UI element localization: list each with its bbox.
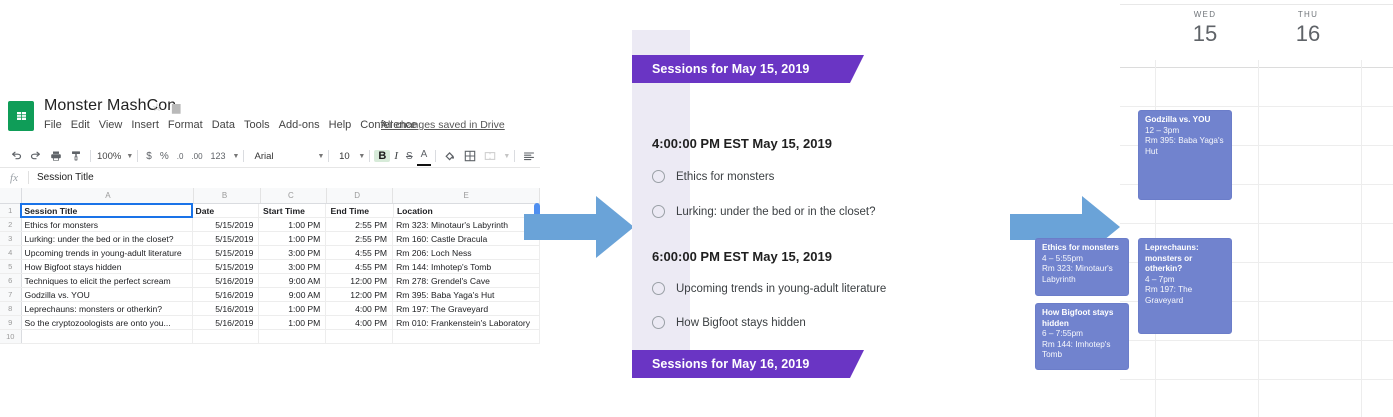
spreadsheet-grid: A B C D E 1 Session Title Date Start Tim… xyxy=(0,188,540,344)
table-header-row: 1 Session Title Date Start Time End Time… xyxy=(0,204,540,218)
event-time: 6 – 7:55pm xyxy=(1042,329,1123,340)
event-title: Ethics for monsters xyxy=(1042,243,1123,254)
flow-arrow-1 xyxy=(524,196,634,263)
cell-location[interactable]: Rm 160: Castle Dracula xyxy=(393,232,540,245)
table-row-empty: 10 xyxy=(0,330,540,344)
menu-item-data[interactable]: Data xyxy=(212,119,235,131)
folder-icon[interactable]: ▆ xyxy=(172,101,180,114)
menu-bar: FileEditViewInsertFormatDataToolsAdd-ons… xyxy=(44,119,426,131)
event-time: 4 – 7pm xyxy=(1145,275,1226,286)
event-title: How Bigfoot stays hidden xyxy=(1042,308,1123,329)
align-icon[interactable] xyxy=(519,147,539,165)
radio-option-label: Ethics for monsters xyxy=(676,171,774,183)
merge-cells-icon[interactable] xyxy=(480,147,500,165)
cell-start-time[interactable]: 1:00 PM xyxy=(259,316,326,329)
calendar-day-header-thu[interactable]: THU 16 xyxy=(1258,10,1358,47)
cell-start-time[interactable]: 3:00 PM xyxy=(259,246,326,259)
radio-button-icon[interactable] xyxy=(652,282,665,295)
cell-location[interactable]: Rm 395: Baba Yaga's Hut xyxy=(393,288,540,301)
time-group-heading-2: 6:00:00 PM EST May 15, 2019 xyxy=(652,249,832,264)
day-number-label: 16 xyxy=(1258,21,1358,47)
row-number[interactable]: 8 xyxy=(0,302,22,315)
event-location: Rm 144: Imhotep's Tomb xyxy=(1042,340,1123,361)
cell-end-time[interactable]: 12:00 PM xyxy=(326,274,393,287)
calendar-event-ethics[interactable]: Ethics for monsters 4 – 5:55pm Rm 323: M… xyxy=(1035,238,1129,296)
day-of-week-label: THU xyxy=(1258,10,1358,19)
calendar-day-divider xyxy=(1258,60,1259,417)
cell-date[interactable]: 5/15/2019 xyxy=(193,232,260,245)
cell-a10[interactable] xyxy=(22,330,193,343)
row-number[interactable]: 6 xyxy=(0,274,22,287)
merge-chevron-down-icon[interactable]: ▼ xyxy=(503,153,510,160)
banner-slant-decoration xyxy=(850,55,864,83)
cell-date[interactable]: 5/16/2019 xyxy=(193,302,260,315)
menu-item-addons[interactable]: Add-ons xyxy=(279,119,320,131)
formats-chevron-down-icon[interactable]: ▼ xyxy=(233,153,240,160)
event-location: Rm 323: Minotaur's Labyrinth xyxy=(1042,264,1123,285)
cell-session-title[interactable]: So the cryptozoologists are onto you... xyxy=(22,316,193,329)
row-number[interactable]: 1 xyxy=(0,204,21,217)
cell-date[interactable]: 5/16/2019 xyxy=(193,274,260,287)
font-chevron-down-icon[interactable]: ▼ xyxy=(317,153,324,160)
cell-start-time[interactable]: 9:00 AM xyxy=(259,274,326,287)
cell-session-title[interactable]: Techniques to elicit the perfect scream xyxy=(22,274,193,287)
table-row: 3Lurking: under the bed or in the closet… xyxy=(0,232,540,246)
font-family-select[interactable]: Arial xyxy=(248,151,314,162)
banner-label: Sessions for May 16, 2019 xyxy=(652,357,809,371)
cell-session-title[interactable]: Godzilla vs. YOU xyxy=(22,288,193,301)
menu-item-format[interactable]: Format xyxy=(168,119,203,131)
font-size-select[interactable]: 10 xyxy=(333,151,355,162)
form-section-banner-may16: Sessions for May 16, 2019 xyxy=(632,350,850,378)
table-row: 2Ethics for monsters5/15/20191:00 PM2:55… xyxy=(0,218,540,232)
cell-date[interactable]: 5/15/2019 xyxy=(193,218,260,231)
cell-end-time[interactable]: 4:00 PM xyxy=(326,316,393,329)
row-number[interactable]: 4 xyxy=(0,246,22,259)
calendar-event-bigfoot[interactable]: How Bigfoot stays hidden 6 – 7:55pm Rm 1… xyxy=(1035,303,1129,370)
event-time: 4 – 5:55pm xyxy=(1042,254,1123,265)
radio-option-upcoming-trends[interactable]: Upcoming trends in young-adult literatur… xyxy=(652,282,886,295)
google-sheets-window: Monster MashCon ☆ ▆ FileEditViewInsertFo… xyxy=(0,95,540,320)
cell-session-title[interactable]: Ethics for monsters xyxy=(22,218,193,231)
google-calendar-week-view: WED 15 THU 16 xyxy=(1120,0,1393,417)
sheets-toolbar: 100% ▼ $ % .0 .00 123 ▼ Arial ▼ 10 ▼ B I… xyxy=(0,145,540,168)
fx-icon: fx xyxy=(0,172,28,184)
table-body: 2Ethics for monsters5/15/20191:00 PM2:55… xyxy=(0,218,540,330)
table-row: 9So the cryptozoologists are onto you...… xyxy=(0,316,540,330)
day-of-week-label: WED xyxy=(1155,10,1255,19)
cell-date[interactable]: 5/16/2019 xyxy=(193,288,260,301)
time-group-heading-1: 4:00:00 PM EST May 15, 2019 xyxy=(652,136,832,151)
screenshot-stage: Monster MashCon ☆ ▆ FileEditViewInsertFo… xyxy=(0,0,1393,417)
text-color-button[interactable]: A xyxy=(417,146,432,166)
table-row: 6Techniques to elicit the perfect scream… xyxy=(0,274,540,288)
save-status-link[interactable]: All changes saved in Drive xyxy=(381,119,505,131)
cell-end-time[interactable]: 12:00 PM xyxy=(326,288,393,301)
cell-location[interactable]: Rm 144: Imhotep's Tomb xyxy=(393,260,540,273)
formula-bar: fx Session Title xyxy=(0,167,540,189)
menu-item-view[interactable]: View xyxy=(99,119,123,131)
radio-option-label: Upcoming trends in young-adult literatur… xyxy=(676,283,886,295)
redo-icon[interactable] xyxy=(26,147,46,165)
cell-session-title[interactable]: Leprechauns: monsters or otherkin? xyxy=(22,302,193,315)
cell-start-time[interactable]: 3:00 PM xyxy=(259,260,326,273)
cell-a1-session-title[interactable]: Session Title xyxy=(21,204,191,217)
cell-end-time[interactable]: 4:55 PM xyxy=(326,260,393,273)
row-number[interactable]: 10 xyxy=(0,330,22,343)
cell-c10[interactable] xyxy=(259,330,326,343)
row-number[interactable]: 3 xyxy=(0,232,22,245)
cell-location[interactable]: Rm 197: The Graveyard xyxy=(393,302,540,315)
radio-option-lurking[interactable]: Lurking: under the bed or in the closet? xyxy=(652,205,875,218)
cell-b1-date[interactable]: Date xyxy=(192,204,259,217)
cell-end-time[interactable]: 2:55 PM xyxy=(326,232,393,245)
radio-option-bigfoot[interactable]: How Bigfoot stays hidden xyxy=(652,316,806,329)
banner-label: Sessions for May 15, 2019 xyxy=(652,62,809,76)
calendar-hour-line xyxy=(1120,340,1393,341)
cell-location[interactable]: Rm 323: Minotaur's Labyrinth xyxy=(393,218,540,231)
bold-button[interactable]: B xyxy=(374,150,390,162)
cell-start-time[interactable]: 1:00 PM xyxy=(259,218,326,231)
menu-item-help[interactable]: Help xyxy=(329,119,352,131)
fill-color-icon[interactable] xyxy=(440,147,460,165)
radio-button-icon[interactable] xyxy=(652,170,665,183)
cell-location[interactable]: Rm 010: Frankenstein's Laboratory xyxy=(393,316,540,329)
radio-option-label: How Bigfoot stays hidden xyxy=(676,317,806,329)
event-title: Leprechauns: monsters or otherkin? xyxy=(1145,243,1226,275)
more-formats-button[interactable]: 123 xyxy=(207,147,230,165)
size-chevron-down-icon[interactable]: ▼ xyxy=(358,153,365,160)
percent-format-button[interactable]: % xyxy=(156,147,173,165)
row-number[interactable]: 7 xyxy=(0,288,22,301)
calendar-hour-line xyxy=(1120,67,1393,68)
table-row: 4Upcoming trends in young-adult literatu… xyxy=(0,246,540,260)
column-header-c[interactable]: C xyxy=(261,188,327,203)
cell-c1-start-time[interactable]: Start Time xyxy=(259,204,326,217)
cell-d1-end-time[interactable]: End Time xyxy=(326,204,393,217)
italic-button[interactable]: I xyxy=(390,150,402,162)
borders-icon[interactable] xyxy=(460,147,480,165)
event-location: Rm 197: The Graveyard xyxy=(1145,285,1226,306)
chevron-down-icon[interactable]: ▼ xyxy=(126,153,133,160)
cell-start-time[interactable]: 1:00 PM xyxy=(259,232,326,245)
cell-session-title[interactable]: Lurking: under the bed or in the closet? xyxy=(22,232,193,245)
column-header-b[interactable]: B xyxy=(194,188,260,203)
cell-end-time[interactable]: 4:00 PM xyxy=(326,302,393,315)
calendar-top-divider xyxy=(1120,4,1393,5)
menu-item-edit[interactable]: Edit xyxy=(71,119,90,131)
undo-icon[interactable] xyxy=(6,147,26,165)
column-header-row: A B C D E xyxy=(0,188,540,204)
cell-session-title[interactable]: How Bigfoot stays hidden xyxy=(22,260,193,273)
menu-item-file[interactable]: File xyxy=(44,119,62,131)
calendar-day-divider xyxy=(1361,60,1362,417)
decrease-decimal-button[interactable]: .0 xyxy=(173,147,188,165)
banner-slant-decoration xyxy=(850,350,864,378)
cell-location[interactable]: Rm 206: Loch Ness xyxy=(393,246,540,259)
cell-b10[interactable] xyxy=(193,330,260,343)
cell-e10[interactable] xyxy=(393,330,540,343)
menu-item-tools[interactable]: Tools xyxy=(244,119,270,131)
star-icon[interactable]: ☆ xyxy=(152,101,162,114)
calendar-hour-line xyxy=(1120,379,1393,380)
event-location: Rm 395: Baba Yaga's Hut xyxy=(1145,136,1226,157)
cell-date[interactable]: 5/16/2019 xyxy=(193,316,260,329)
cell-end-time[interactable]: 4:55 PM xyxy=(326,246,393,259)
google-form-preview: Sessions for May 15, 2019 4:00:00 PM EST… xyxy=(632,30,920,370)
print-icon[interactable] xyxy=(46,147,66,165)
day-number-label: 15 xyxy=(1155,21,1255,47)
table-row: 8Leprechauns: monsters or otherkin?5/16/… xyxy=(0,302,540,316)
calendar-event-godzilla[interactable]: Godzilla vs. YOU 12 – 3pm Rm 395: Baba Y… xyxy=(1138,110,1232,200)
table-row: 7Godzilla vs. YOU5/16/20199:00 AM12:00 P… xyxy=(0,288,540,302)
column-header-d[interactable]: D xyxy=(327,188,393,203)
table-row: 5How Bigfoot stays hidden5/15/20193:00 P… xyxy=(0,260,540,274)
cell-start-time[interactable]: 9:00 AM xyxy=(259,288,326,301)
cell-date[interactable]: 5/15/2019 xyxy=(193,260,260,273)
cell-start-time[interactable]: 1:00 PM xyxy=(259,302,326,315)
row-number[interactable]: 9 xyxy=(0,316,22,329)
radio-button-icon[interactable] xyxy=(652,205,665,218)
cell-d10[interactable] xyxy=(326,330,393,343)
formula-input[interactable]: Session Title xyxy=(29,172,94,183)
zoom-level[interactable]: 100% xyxy=(95,151,123,162)
event-time: 12 – 3pm xyxy=(1145,126,1226,137)
calendar-hour-line xyxy=(1120,223,1393,224)
sheets-title-bar: Monster MashCon ☆ ▆ FileEditViewInsertFo… xyxy=(0,95,540,145)
google-sheets-logo xyxy=(8,101,34,131)
strikethrough-button[interactable]: S xyxy=(402,147,417,165)
radio-option-ethics[interactable]: Ethics for monsters xyxy=(652,170,774,183)
calendar-day-header-wed[interactable]: WED 15 xyxy=(1155,10,1255,47)
cell-session-title[interactable]: Upcoming trends in young-adult literatur… xyxy=(22,246,193,259)
cell-end-time[interactable]: 2:55 PM xyxy=(326,218,393,231)
event-title: Godzilla vs. YOU xyxy=(1145,115,1226,126)
cell-location[interactable]: Rm 278: Grendel's Cave xyxy=(393,274,540,287)
row-number[interactable]: 2 xyxy=(0,218,22,231)
currency-format-button[interactable]: $ xyxy=(142,147,156,165)
column-header-e[interactable]: E xyxy=(393,188,540,203)
select-all-corner[interactable] xyxy=(0,188,22,203)
paint-format-icon[interactable] xyxy=(66,147,86,165)
column-header-a[interactable]: A xyxy=(22,188,194,203)
cell-e1-location[interactable]: Location xyxy=(394,204,540,217)
form-section-banner-may15: Sessions for May 15, 2019 xyxy=(632,55,850,83)
menu-item-insert[interactable]: Insert xyxy=(131,119,159,131)
radio-button-icon[interactable] xyxy=(652,316,665,329)
calendar-event-leprechauns[interactable]: Leprechauns: monsters or otherkin? 4 – 7… xyxy=(1138,238,1232,334)
calendar-hour-line xyxy=(1120,106,1393,107)
radio-option-label: Lurking: under the bed or in the closet? xyxy=(676,206,875,218)
increase-decimal-button[interactable]: .00 xyxy=(187,147,206,165)
cell-date[interactable]: 5/15/2019 xyxy=(193,246,260,259)
row-number[interactable]: 5 xyxy=(0,260,22,273)
